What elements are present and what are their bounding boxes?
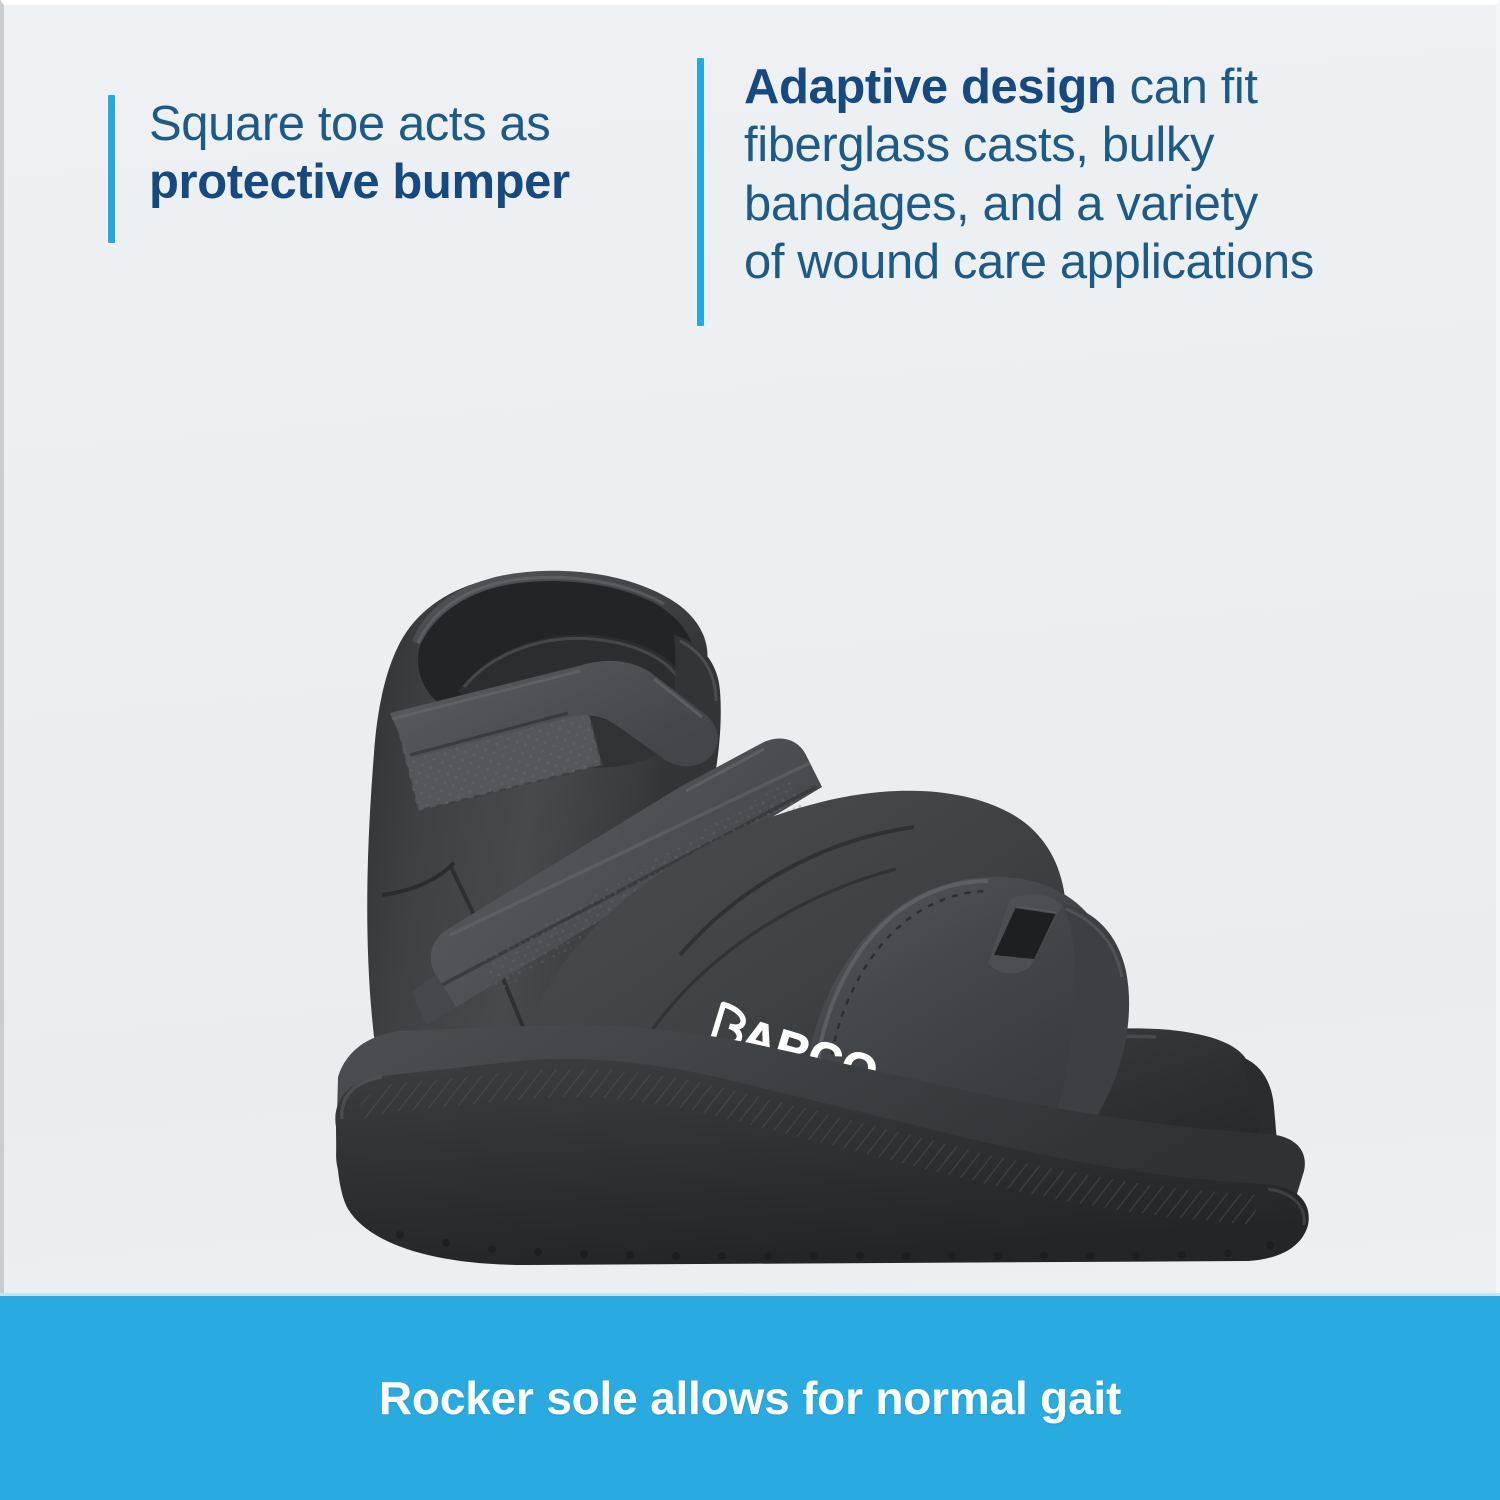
bottom-banner: Rocker sole allows for normal gait — [0, 1293, 1500, 1500]
bottom-banner-label: Rocker sole allows for normal gait — [379, 1371, 1121, 1425]
callout-square-toe-text: Square toe acts as protective bumper — [115, 95, 570, 243]
callout-square-toe: Square toe acts as protective bumper — [108, 95, 570, 243]
callout-square-toe-emphasis: protective bumper — [149, 155, 570, 209]
product-image-post-op-cast-shoe: ARCO — [250, 335, 1310, 1270]
callout-adaptive-design-line2: fiberglass casts, bulky — [744, 118, 1214, 172]
callout-adaptive-design-text: Adaptive design can fit fiberglass casts… — [704, 58, 1314, 326]
product-feature-infographic: ARCO — [0, 0, 1500, 1500]
callout-adaptive-design-line3: bandages, and a variety — [744, 177, 1258, 231]
callout-adaptive-design-line4: of wound care applications — [744, 235, 1314, 289]
callout-adaptive-design-line1: can fit — [1116, 60, 1257, 114]
callout-accent-rule — [697, 58, 704, 326]
callout-adaptive-design-emphasis: Adaptive design — [744, 60, 1116, 114]
callout-square-toe-line1: Square toe acts as — [149, 97, 550, 151]
callout-adaptive-design: Adaptive design can fit fiberglass casts… — [697, 58, 1314, 326]
callout-accent-rule — [108, 95, 115, 243]
